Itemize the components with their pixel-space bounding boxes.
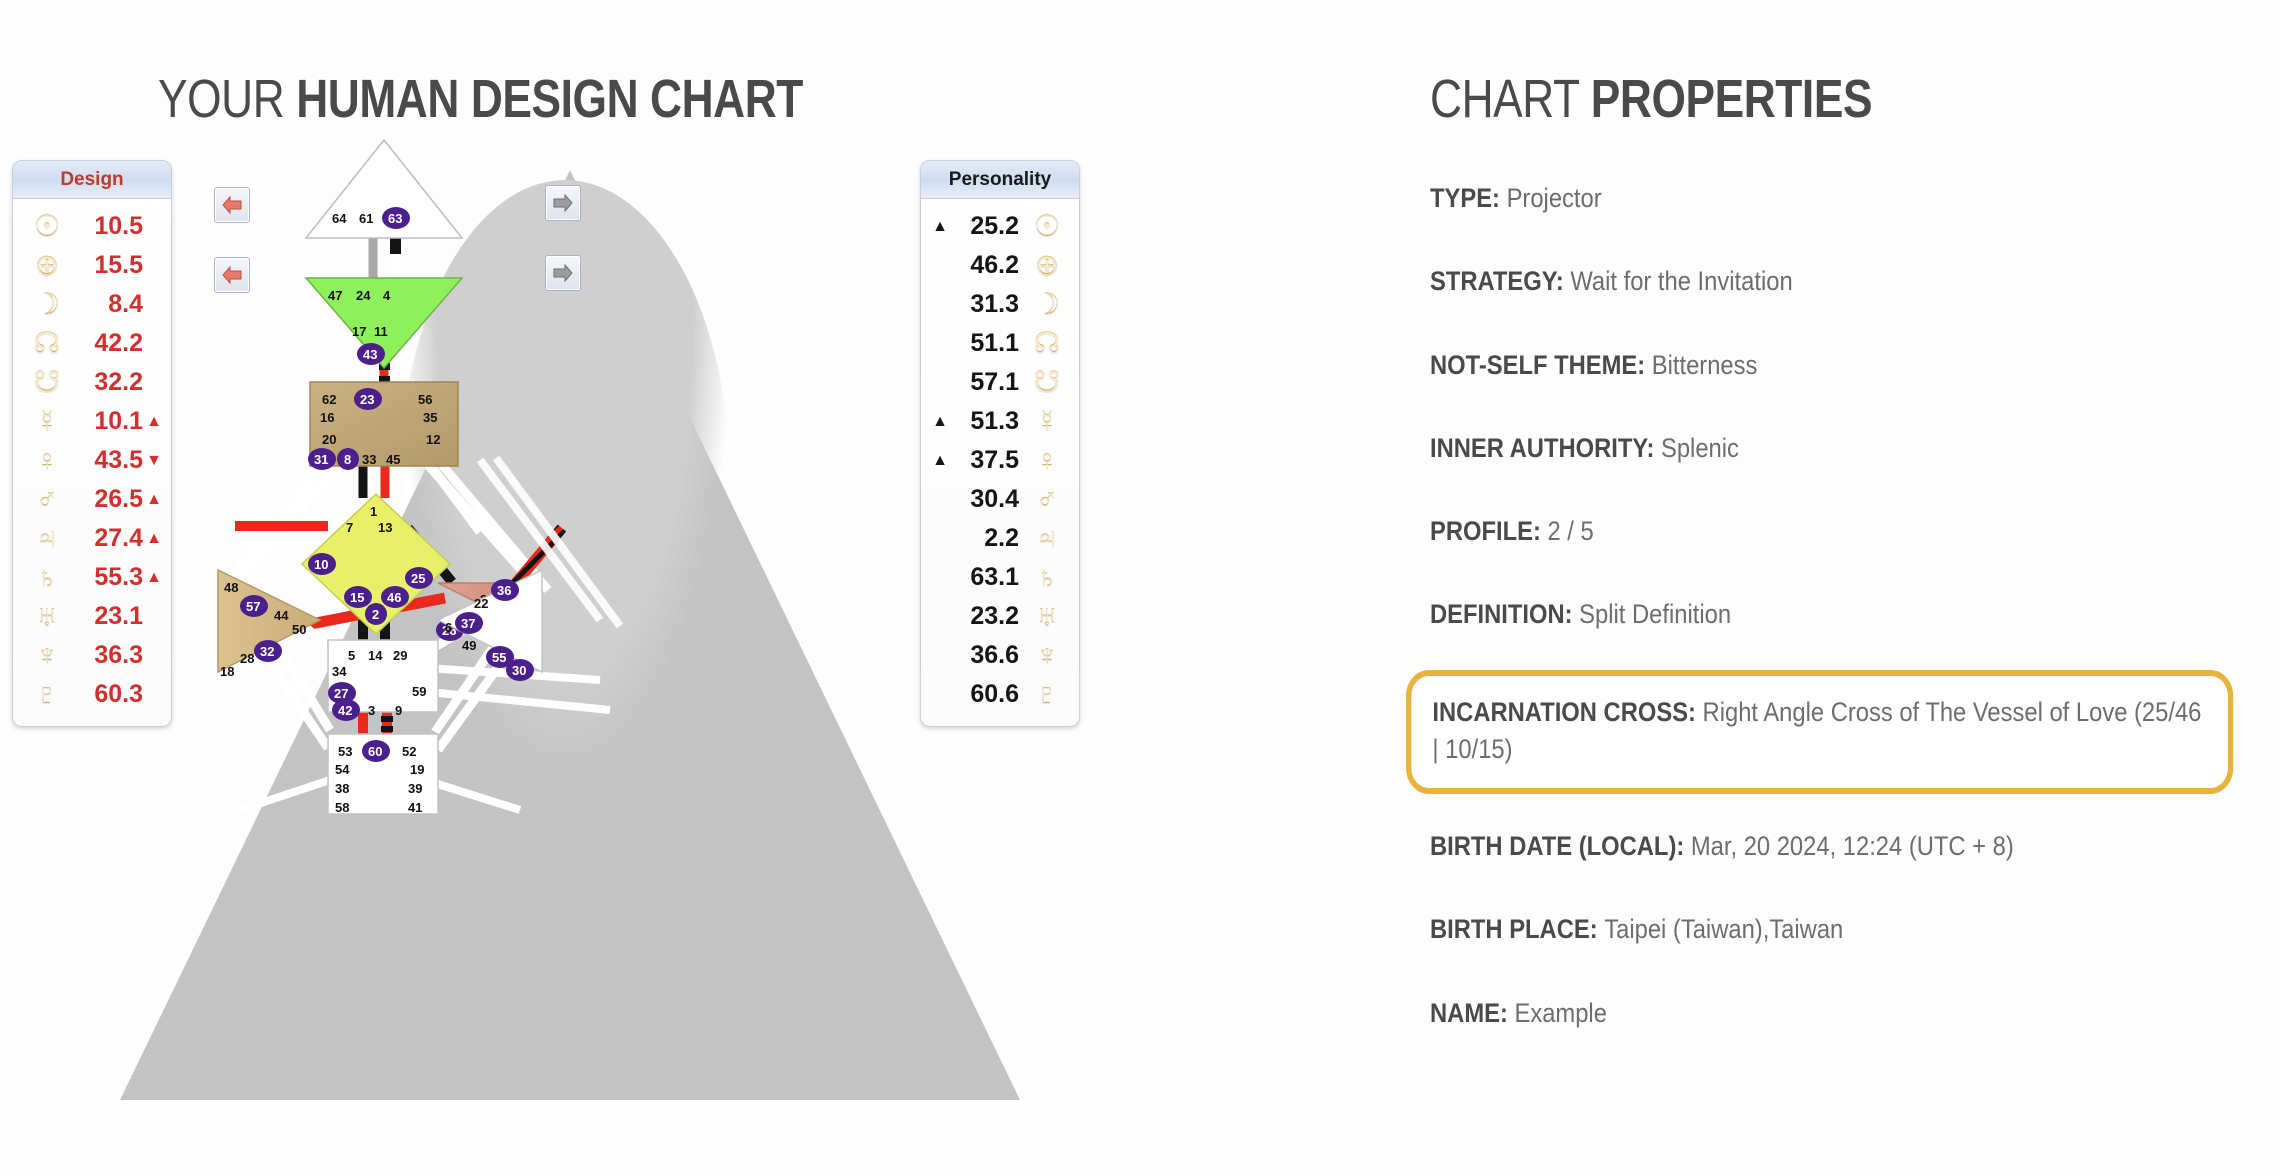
gate-43: 43 — [363, 347, 377, 362]
gate-41: 41 — [408, 800, 422, 815]
gate-23: 23 — [360, 392, 374, 407]
gate-62: 62 — [322, 392, 336, 407]
gate-28: 28 — [240, 651, 254, 666]
gate-36: 36 — [497, 583, 511, 598]
venus-icon: ♀ — [1023, 446, 1071, 476]
exalted-icon: ▲ — [143, 569, 165, 587]
gate-50: 50 — [292, 622, 306, 637]
property-key: NAME: — [1430, 998, 1514, 1028]
mercury-icon: ☿ — [1023, 407, 1071, 437]
planet-value: 8.4 — [71, 290, 143, 319]
venus-icon: ♀ — [23, 446, 71, 476]
pluto-icon: ♇ — [23, 680, 71, 710]
design-panel-rows: ☉10.5⊕15.5☽8.4☊42.2☋32.2☿10.1▲♀43.5▼♂26.… — [13, 199, 171, 726]
property-key: STRATEGY: — [1430, 266, 1570, 296]
planet-value: 10.5 — [71, 212, 143, 241]
gate-10: 10 — [314, 557, 328, 572]
gate-35: 35 — [423, 410, 437, 425]
exalted-icon: ▲ — [143, 413, 165, 431]
detriment-icon: ▼ — [143, 452, 165, 470]
planet-value: 2.2 — [951, 524, 1023, 553]
exalted-icon: ▲ — [143, 491, 165, 509]
mars-icon: ♂ — [1023, 485, 1071, 515]
gate-53: 53 — [338, 744, 352, 759]
property-inner-authority: INNER AUTHORITY: Splenic — [1430, 430, 2160, 467]
gate-31: 31 — [314, 452, 328, 467]
personality-panel: Personality ▲25.2☉46.2⊕31.3☽51.1☊57.1☋▲5… — [920, 160, 1080, 727]
planet-row: 2.2♃ — [921, 519, 1079, 558]
gate-55: 55 — [492, 650, 506, 665]
properties-title-bold: PROPERTIES — [1591, 69, 1872, 129]
property-incarnation-cross: INCARNATION CROSS: Right Angle Cross of … — [1406, 670, 2233, 795]
planet-value: 57.1 — [951, 368, 1023, 397]
planet-value: 55.3 — [71, 563, 143, 592]
planet-value: 60.6 — [951, 680, 1023, 709]
gate-8: 8 — [344, 452, 351, 467]
planet-row: 60.6♇ — [921, 675, 1079, 714]
property-name: NAME: Example — [1430, 995, 2160, 1032]
planet-row: 36.6♆ — [921, 636, 1079, 675]
planet-row: ♀43.5▼ — [13, 441, 171, 480]
gate-5: 5 — [348, 648, 355, 663]
planet-row: 63.1♄ — [921, 558, 1079, 597]
gate-39: 39 — [408, 781, 422, 796]
property-key: NOT-SELF THEME: — [1430, 350, 1652, 380]
personality-panel-rows: ▲25.2☉46.2⊕31.3☽51.1☊57.1☋▲51.3☿▲37.5♀30… — [921, 199, 1079, 726]
gate-48: 48 — [224, 580, 238, 595]
planet-value: 36.3 — [71, 641, 143, 670]
planet-value: 36.6 — [951, 641, 1023, 670]
planet-row: ▲25.2☉ — [921, 207, 1079, 246]
gate-15: 15 — [350, 590, 364, 605]
south-node-icon: ☋ — [23, 368, 71, 398]
planet-row: ☿10.1▲ — [13, 402, 171, 441]
property-profile: PROFILE: 2 / 5 — [1430, 513, 2160, 550]
sun-icon: ☉ — [1023, 212, 1071, 242]
gate-11: 11 — [374, 324, 388, 339]
planet-row: ♇60.3 — [13, 675, 171, 714]
mercury-icon: ☿ — [23, 407, 71, 437]
exalted-icon: ▲ — [143, 530, 165, 548]
neptune-icon: ♆ — [23, 641, 71, 671]
planet-value: 15.5 — [71, 251, 143, 280]
property-key: TYPE: — [1430, 183, 1507, 213]
gate-46: 46 — [387, 590, 401, 605]
mars-icon: ♂ — [23, 485, 71, 515]
planet-row: 31.3☽ — [921, 285, 1079, 324]
planet-value: 46.2 — [951, 251, 1023, 280]
uranus-icon: ♅ — [23, 602, 71, 632]
planet-row: ☋32.2 — [13, 363, 171, 402]
property-definition: DEFINITION: Split Definition — [1430, 596, 2160, 633]
properties-title-light: CHART — [1430, 69, 1591, 129]
gate-54: 54 — [335, 762, 350, 777]
exalted-icon: ▲ — [929, 413, 951, 431]
gate-20: 20 — [322, 432, 336, 447]
planet-row: 46.2⊕ — [921, 246, 1079, 285]
planet-row: ♂26.5▲ — [13, 480, 171, 519]
gate-9: 9 — [395, 703, 402, 718]
neptune-icon: ♆ — [1023, 641, 1071, 671]
planet-value: 23.1 — [71, 602, 143, 631]
chart-properties-list: TYPE: ProjectorSTRATEGY: Wait for the In… — [1430, 180, 2260, 1078]
gate-22: 22 — [474, 596, 488, 611]
planet-row: ☊42.2 — [13, 324, 171, 363]
property-key: INNER AUTHORITY: — [1430, 433, 1661, 463]
planet-value: 30.4 — [951, 485, 1023, 514]
gate-24: 24 — [356, 288, 371, 303]
gate-42: 42 — [338, 703, 352, 718]
gate-14: 14 — [368, 648, 383, 663]
gate-38: 38 — [335, 781, 349, 796]
gate-52: 52 — [402, 744, 416, 759]
gate-44: 44 — [274, 608, 289, 623]
jupiter-icon: ♃ — [1023, 524, 1071, 554]
design-panel: Design ☉10.5⊕15.5☽8.4☊42.2☋32.2☿10.1▲♀43… — [12, 160, 172, 727]
gate-57: 57 — [246, 599, 260, 614]
property-type: TYPE: Projector — [1430, 180, 2160, 217]
human-design-chart-page: YOUR HUMAN DESIGN CHART CHART PROPERTIES… — [0, 0, 2280, 1176]
gate-7: 7 — [346, 520, 353, 535]
planet-row: ☽8.4 — [13, 285, 171, 324]
gate-58: 58 — [335, 800, 349, 815]
planet-value: 10.1 — [71, 407, 143, 436]
planet-row: 51.1☊ — [921, 324, 1079, 363]
gate-13: 13 — [378, 520, 392, 535]
pluto-icon: ♇ — [1023, 680, 1071, 710]
planet-row: ⊕15.5 — [13, 246, 171, 285]
gate-3: 3 — [368, 703, 375, 718]
bodygraph-svg-wrapper[interactable]: 64 61 63 47 24 4 17 11 43 62 23 56 16 — [180, 120, 820, 800]
property-value: Splenic — [1661, 433, 1739, 463]
personality-panel-header: Personality — [921, 161, 1079, 199]
planet-value: 51.1 — [951, 329, 1023, 358]
properties-title: CHART PROPERTIES — [1430, 68, 1872, 130]
planet-row: 57.1☋ — [921, 363, 1079, 402]
gate-25: 25 — [411, 571, 425, 586]
gate-18: 18 — [220, 664, 234, 679]
south-node-icon: ☋ — [1023, 368, 1071, 398]
north-node-icon: ☊ — [1023, 329, 1071, 359]
gate-17: 17 — [352, 324, 366, 339]
planet-value: 25.2 — [951, 212, 1023, 241]
gate-2: 2 — [372, 607, 379, 622]
gate-30: 30 — [512, 663, 526, 678]
property-value: Projector — [1507, 183, 1602, 213]
planet-value: 63.1 — [951, 563, 1023, 592]
exalted-icon: ▲ — [929, 452, 951, 470]
design-panel-header: Design — [13, 161, 171, 199]
gate-16: 16 — [320, 410, 334, 425]
gate-59: 59 — [412, 684, 426, 699]
gate-60: 60 — [368, 744, 382, 759]
bodygraph-svg: 64 61 63 47 24 4 17 11 43 62 23 56 16 — [180, 120, 820, 800]
property-key: INCARNATION CROSS: — [1432, 697, 1702, 727]
earth-icon: ⊕ — [1023, 251, 1071, 281]
property-birth-place: BIRTH PLACE: Taipei (Taiwan),Taiwan — [1430, 911, 2160, 948]
gate-64: 64 — [332, 211, 347, 226]
planet-row: ♅23.1 — [13, 597, 171, 636]
sun-icon: ☉ — [23, 212, 71, 242]
property-value: 2 / 5 — [1547, 516, 1593, 546]
planet-row: 30.4♂ — [921, 480, 1079, 519]
saturn-icon: ♄ — [1023, 563, 1071, 593]
property-not-self-theme: NOT-SELF THEME: Bitterness — [1430, 347, 2160, 384]
uranus-icon: ♅ — [1023, 602, 1071, 632]
planet-row: 23.2♅ — [921, 597, 1079, 636]
gate-37: 37 — [461, 616, 475, 631]
property-value: Wait for the Invitation — [1570, 266, 1792, 296]
planet-row: ♄55.3▲ — [13, 558, 171, 597]
planet-value: 43.5 — [71, 446, 143, 475]
moon-icon: ☽ — [23, 290, 71, 320]
planet-value: 23.2 — [951, 602, 1023, 631]
property-key: DEFINITION: — [1430, 599, 1579, 629]
property-key: BIRTH PLACE: — [1430, 914, 1604, 944]
property-value: Split Definition — [1579, 599, 1731, 629]
gate-61: 61 — [359, 211, 373, 226]
north-node-icon: ☊ — [23, 329, 71, 359]
gate-33: 33 — [362, 452, 376, 467]
gate-63: 63 — [388, 211, 402, 226]
planet-value: 26.5 — [71, 485, 143, 514]
planet-row: ☉10.5 — [13, 207, 171, 246]
gate-47: 47 — [328, 288, 342, 303]
exalted-icon: ▲ — [929, 218, 951, 236]
property-value: Mar, 20 2024, 12:24 (UTC + 8) — [1691, 831, 2014, 861]
gate-29: 29 — [393, 648, 407, 663]
gate-4: 4 — [383, 288, 391, 303]
gate-1: 1 — [370, 504, 377, 519]
gate-45: 45 — [386, 452, 400, 467]
planet-value: 42.2 — [71, 329, 143, 358]
property-strategy: STRATEGY: Wait for the Invitation — [1430, 263, 2160, 300]
gate-19: 19 — [410, 762, 424, 777]
earth-icon: ⊕ — [23, 251, 71, 281]
planet-value: 60.3 — [71, 680, 143, 709]
gate-56: 56 — [418, 392, 432, 407]
planet-value: 51.3 — [951, 407, 1023, 436]
property-birth-date: BIRTH DATE (LOCAL): Mar, 20 2024, 12:24 … — [1430, 828, 2160, 865]
gate-49: 49 — [462, 638, 476, 653]
property-value: Taipei (Taiwan),Taiwan — [1604, 914, 1843, 944]
planet-row: ♆36.3 — [13, 636, 171, 675]
property-key: BIRTH DATE (LOCAL): — [1430, 831, 1691, 861]
planet-value: 31.3 — [951, 290, 1023, 319]
property-key: PROFILE: — [1430, 516, 1547, 546]
property-value: Bitterness — [1652, 350, 1758, 380]
gate-12: 12 — [426, 432, 440, 447]
gate-34: 34 — [332, 664, 347, 679]
bodygraph-area: Design ☉10.5⊕15.5☽8.4☊42.2☋32.2☿10.1▲♀43… — [0, 160, 1160, 1176]
planet-value: 37.5 — [951, 446, 1023, 475]
planet-row: ▲37.5♀ — [921, 441, 1079, 480]
planet-row: ♃27.4▲ — [13, 519, 171, 558]
planet-row: ▲51.3☿ — [921, 402, 1079, 441]
moon-icon: ☽ — [1023, 290, 1071, 320]
property-value: Example — [1514, 998, 1606, 1028]
planet-value: 32.2 — [71, 368, 143, 397]
gate-32: 32 — [260, 644, 274, 659]
gate-6: 6 — [445, 620, 452, 635]
jupiter-icon: ♃ — [23, 524, 71, 554]
saturn-icon: ♄ — [23, 563, 71, 593]
gate-27: 27 — [334, 686, 348, 701]
planet-value: 27.4 — [71, 524, 143, 553]
